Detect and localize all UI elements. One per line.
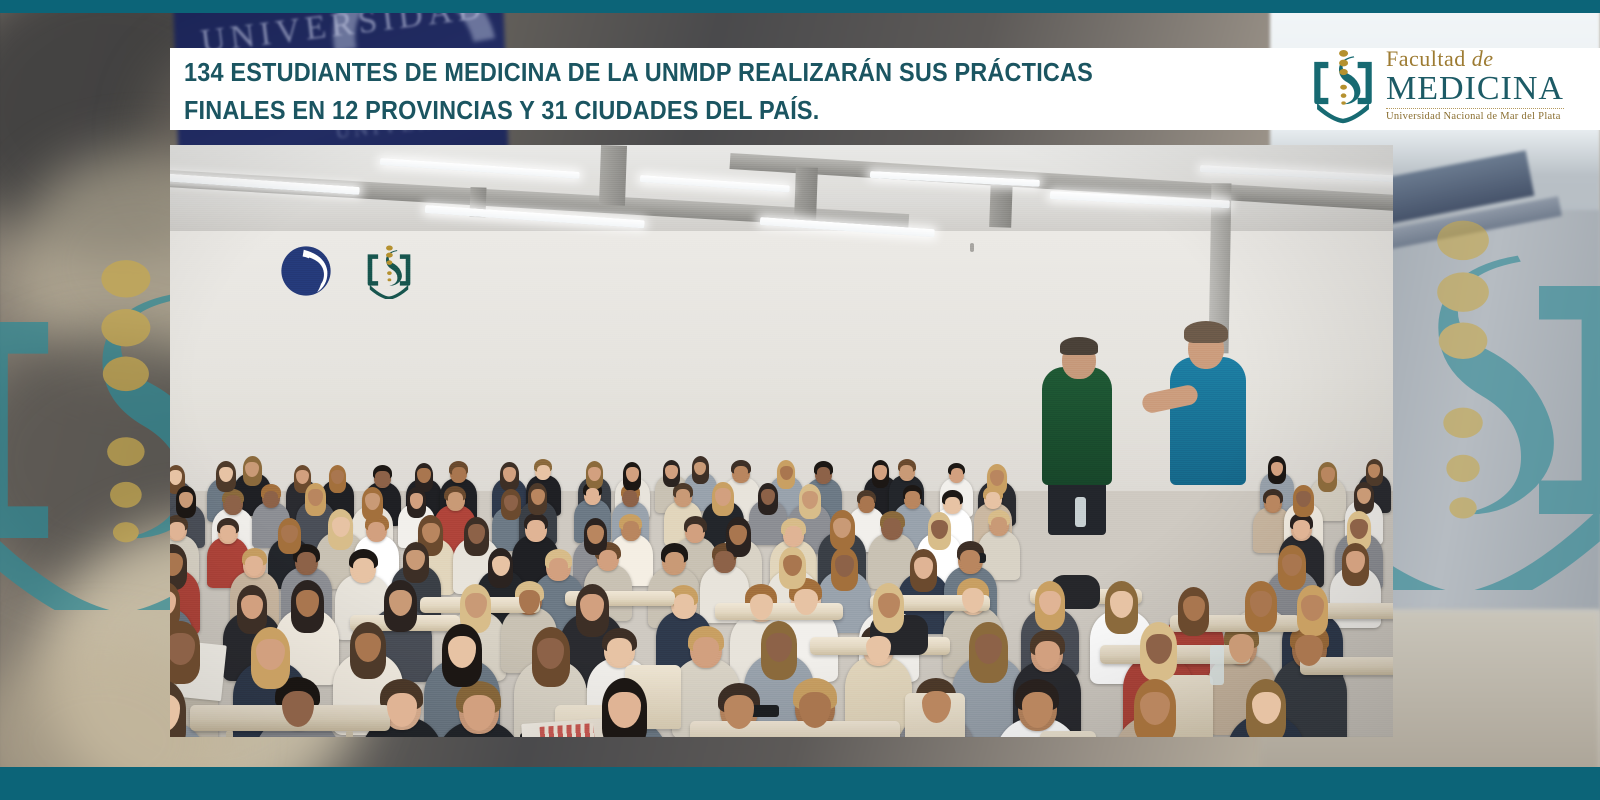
logo-word-facultad: Facultad: [1386, 46, 1466, 71]
photo-desk: [715, 603, 843, 620]
photo-water-bottle: [1210, 645, 1224, 685]
audience-member-face: [527, 520, 545, 540]
faculty-logo: Facultad de MEDICINA Universidad Naciona…: [1312, 38, 1562, 128]
audience-member-face: [626, 467, 639, 481]
speaker-green-hair: [1060, 337, 1098, 355]
audience-member-face: [1321, 467, 1334, 482]
logo-word-de: de: [1472, 46, 1494, 71]
medicine-shield-icon: [1312, 40, 1374, 126]
speaker-blue-scrubs: [1170, 357, 1246, 485]
audience-member-face: [607, 638, 631, 665]
photo-chair-back: [1040, 731, 1096, 737]
photo-desk: [690, 721, 900, 737]
photo-ceiling-beam: [794, 167, 818, 220]
photo-desk-leg: [346, 731, 353, 737]
unmdp-wave-icon: [278, 243, 334, 299]
logo-line-universidad: Universidad Nacional de Mar del Plata: [1386, 108, 1564, 122]
audience-member-face: [281, 525, 297, 543]
photo-ceiling-beam: [599, 145, 627, 206]
audience-member-face: [990, 470, 1004, 486]
audience-member-face: [715, 488, 730, 505]
audience-member-face: [588, 467, 600, 481]
audience-member-face: [860, 496, 874, 512]
medicina-shield-wall-icon: [366, 241, 412, 299]
audience-member-face: [308, 489, 323, 506]
logo-line-facultad: Facultad de: [1386, 48, 1564, 70]
audience-member-face: [874, 465, 886, 479]
photo-ceiling-beam: [989, 179, 1013, 228]
logo-line-medicina: MEDICINA: [1386, 71, 1564, 107]
photo-wall-fixture: [970, 243, 974, 252]
audience-member-face: [951, 468, 963, 482]
lecture-hall-photo: [170, 145, 1393, 737]
top-teal-bar: [0, 0, 1600, 13]
photo-desk-leg: [226, 731, 233, 737]
audience-member-face: [519, 590, 540, 613]
page-title: 134 ESTUDIANTES DE MEDICINA DE LA UNMDP …: [184, 54, 1187, 130]
audience-member-face: [353, 558, 374, 581]
audience-member-face: [492, 556, 510, 576]
audience-member-face: [665, 465, 677, 479]
bottom-teal-bar: [0, 767, 1600, 800]
audience-member-face: [802, 491, 818, 509]
faculty-logo-wordmark: Facultad de MEDICINA Universidad Naciona…: [1386, 44, 1564, 123]
photo-water-bottle: [1075, 497, 1086, 527]
audience-member-face: [1266, 495, 1280, 511]
speaker-blue-hair: [1184, 321, 1228, 343]
speaker-green-scrubs: [1042, 367, 1112, 485]
